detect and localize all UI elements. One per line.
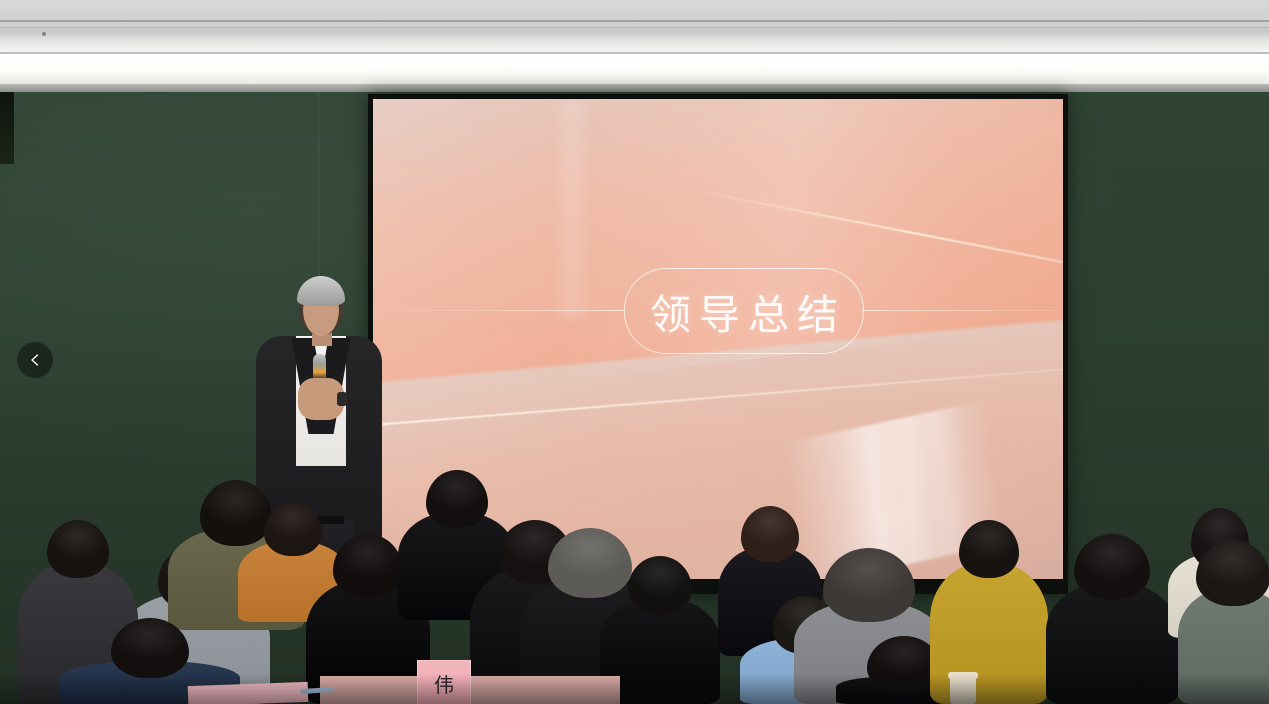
slide-rule-right <box>861 310 1059 311</box>
slide-title-pill: 领导总结 <box>624 268 864 354</box>
carousel-prev-button[interactable] <box>17 342 53 378</box>
chevron-left-icon <box>28 353 42 367</box>
attendee-head <box>333 534 403 598</box>
ceiling-light-strip <box>0 54 1269 84</box>
wall-corner-dark <box>0 92 14 164</box>
slide-rule-left <box>389 310 625 311</box>
ceiling-screw <box>42 32 46 36</box>
attendee-head <box>823 548 915 622</box>
attendee-head <box>1074 534 1150 600</box>
attendee-head <box>47 520 109 578</box>
slide-title-text: 领导总结 <box>642 281 846 341</box>
attendee-head <box>628 556 692 614</box>
attendee-head <box>959 520 1019 578</box>
attendee-head <box>1196 540 1269 606</box>
photo-scene: 领导总结 伟 <box>0 0 1269 704</box>
ceiling-seam <box>0 20 1269 22</box>
attendee-head <box>741 506 799 562</box>
ceiling-seam <box>0 27 1269 28</box>
attendee-head <box>111 618 189 678</box>
foreground-shadow <box>0 674 1269 704</box>
speaker-wristwatch <box>337 392 347 406</box>
